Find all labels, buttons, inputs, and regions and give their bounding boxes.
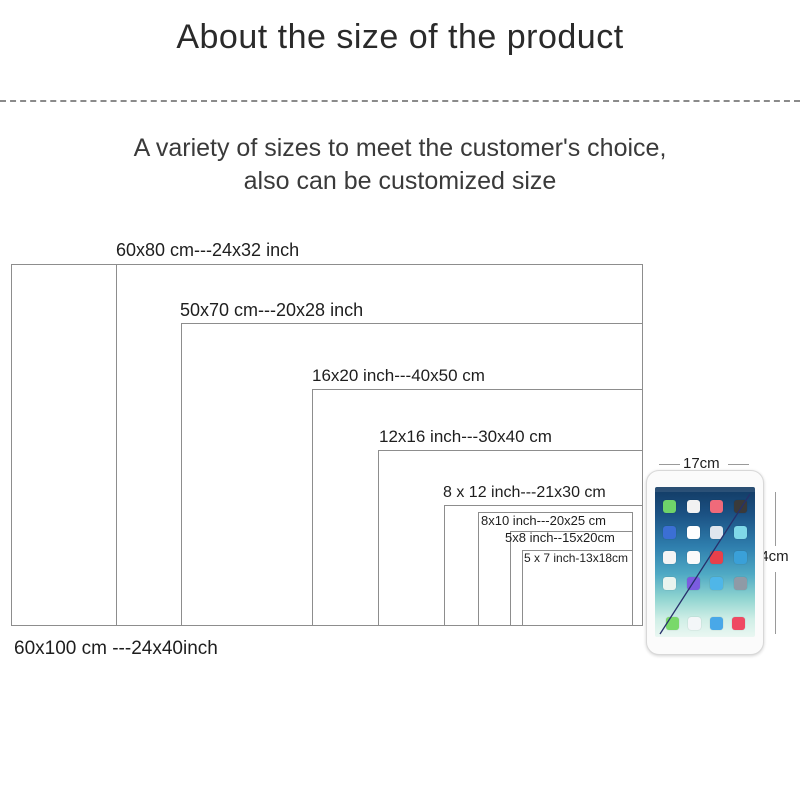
tablet-app-icon-13	[663, 577, 676, 590]
tablet-app-icon-6	[687, 526, 700, 539]
tablet-app-grid	[661, 496, 749, 594]
tablet-screen	[655, 487, 755, 637]
tablet-height-dim-line-bottom	[775, 572, 776, 634]
product-size-infographic: About the size of the product A variety …	[0, 0, 800, 800]
tablet-dock	[661, 615, 749, 631]
size-comparison-chart: 60x100 cm ---24x40inch 60x80 cm---24x32 …	[0, 0, 800, 800]
size-label-21x30: 8 x 12 inch---21x30 cm	[443, 484, 606, 502]
tablet-dock-icon-1	[666, 617, 679, 630]
tablet-app-icon-12	[734, 551, 747, 564]
tablet-app-icon-16	[734, 577, 747, 590]
size-label-20x25: 8x10 inch---20x25 cm	[481, 513, 606, 528]
tablet-height-dim-line-top	[775, 492, 776, 546]
tablet-app-icon-7	[710, 526, 723, 539]
size-label-50x70: 50x70 cm---20x28 inch	[180, 300, 363, 321]
tablet-dock-icon-3	[710, 617, 723, 630]
tablet-status-bar	[655, 487, 755, 492]
tablet-app-icon-15	[710, 577, 723, 590]
tablet-device	[646, 470, 764, 655]
size-label-40x50: 16x20 inch---40x50 cm	[312, 366, 485, 386]
tablet-app-icon-9	[663, 551, 676, 564]
tablet-width-dim-line-right	[728, 464, 749, 465]
size-label-60x100: 60x100 cm ---24x40inch	[14, 638, 218, 660]
tablet-app-icon-10	[687, 551, 700, 564]
tablet-dock-icon-4	[732, 617, 745, 630]
tablet-app-icon-8	[734, 526, 747, 539]
tablet-app-icon-1	[663, 500, 676, 513]
tablet-app-icon-11	[710, 551, 723, 564]
size-rect-60x100	[11, 264, 117, 626]
tablet-app-icon-4	[734, 500, 747, 513]
size-label-30x40: 12x16 inch---30x40 cm	[379, 427, 552, 447]
tablet-dock-icon-2	[688, 617, 701, 630]
tablet-width-dim-line-left	[659, 464, 680, 465]
tablet-app-icon-14	[687, 577, 700, 590]
size-label-15x20: 5x8 inch--15x20cm	[505, 530, 615, 545]
size-label-13x18: 5 x 7 inch-13x18cm	[524, 551, 628, 565]
tablet-app-icon-2	[687, 500, 700, 513]
tablet-app-icon-5	[663, 526, 676, 539]
tablet-app-icon-3	[710, 500, 723, 513]
size-label-60x80: 60x80 cm---24x32 inch	[116, 240, 299, 261]
